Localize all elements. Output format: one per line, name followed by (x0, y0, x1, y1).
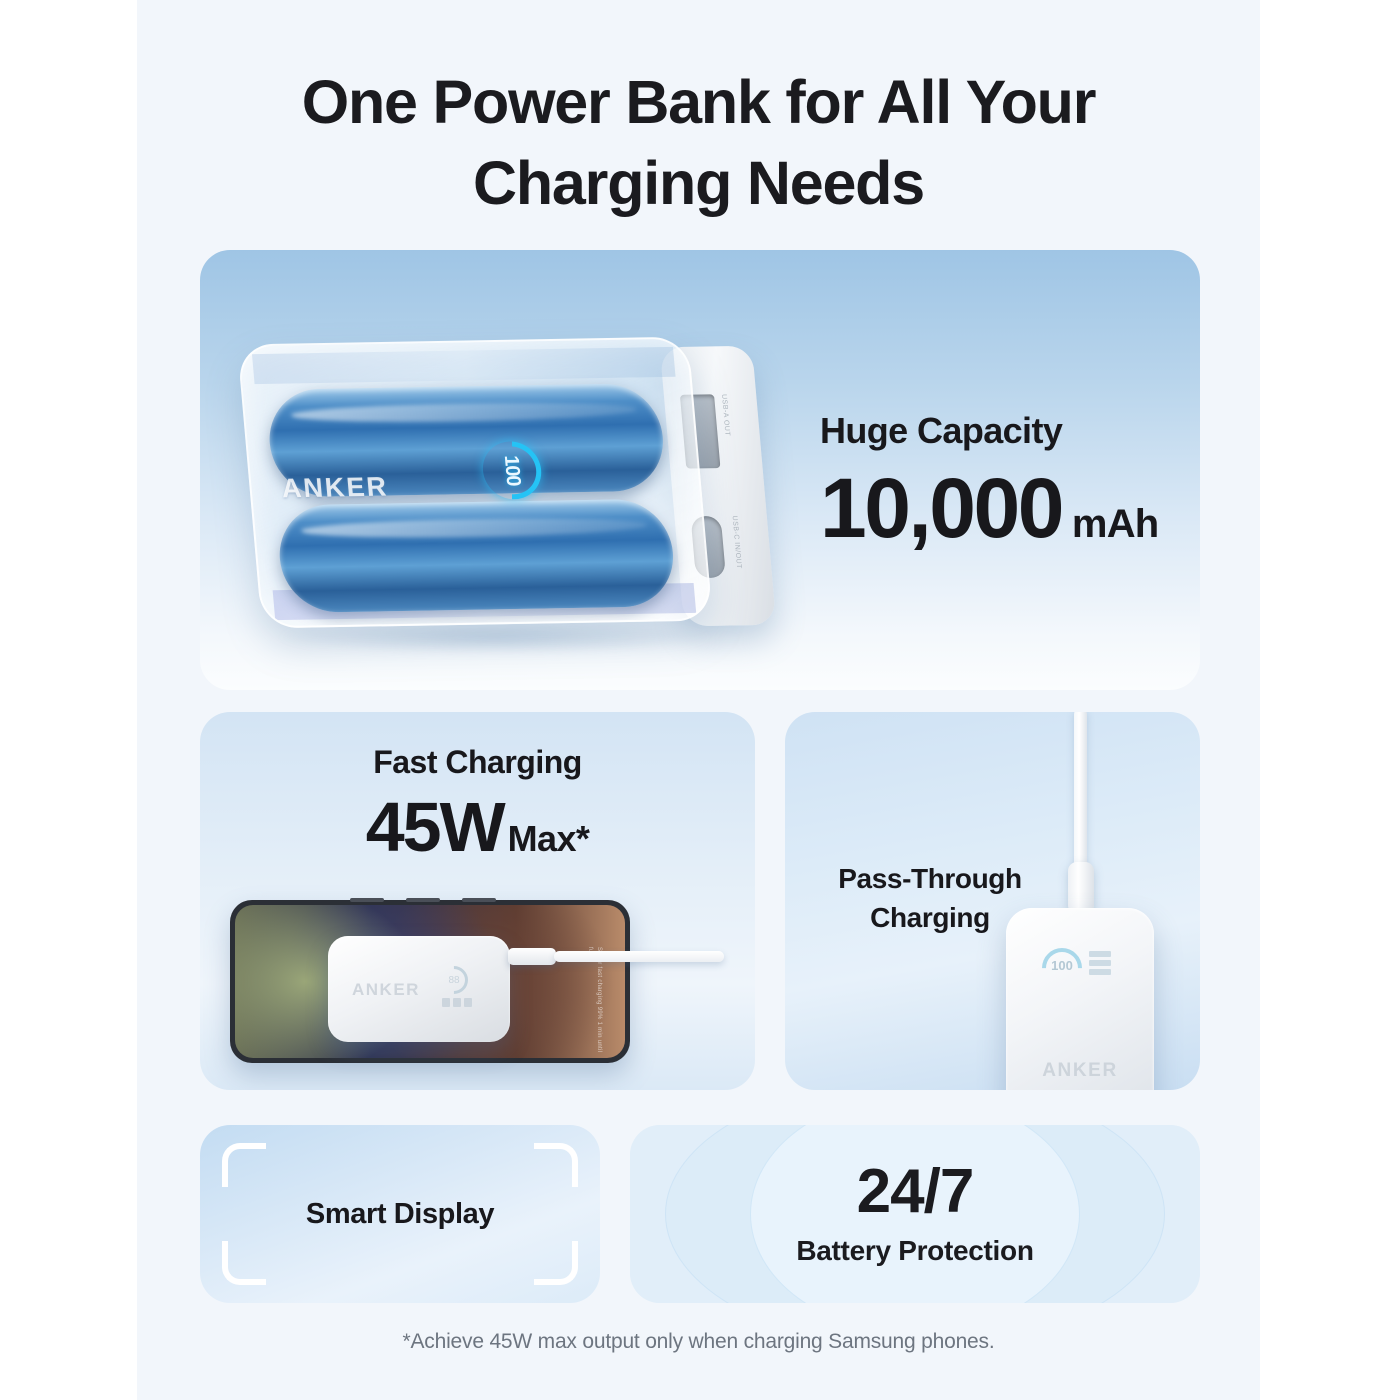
display-indicator-icons (442, 998, 472, 1007)
battery-percent-value: 100 (480, 441, 543, 500)
transparent-power-bank-image: USB-A OUT USB-C IN/OUT ANKER 100 (220, 320, 800, 660)
capacity-unit: mAh (1072, 504, 1159, 544)
circuit-board-top (252, 347, 676, 384)
smart-display-title: Smart Display (200, 1125, 600, 1303)
usb-c-port-label: USB-C IN/OUT (731, 516, 743, 569)
capacity-title: Huge Capacity (820, 410, 1158, 452)
battery-cell-highlight (300, 516, 647, 539)
capacity-value: 10,000 (820, 466, 1062, 550)
battery-gauge-icon: 100 (480, 441, 543, 500)
battery-cell-bottom (275, 499, 677, 613)
power-bank-display: 100 (1042, 948, 1120, 980)
pass-through-charging-card: Pass-Through Charging 100 ANKER (785, 712, 1200, 1090)
usb-a-port-label: USB-A OUT (720, 394, 731, 436)
fast-charging-value-row: 45W Max* (200, 787, 755, 867)
phone-side-buttons (350, 898, 510, 902)
anker-logo: ANKER (280, 472, 389, 505)
cable-wire (554, 951, 724, 962)
pass-through-title-line-2: Charging (870, 902, 990, 933)
battery-percent-value: 100 (1042, 948, 1082, 978)
usb-c-plug-icon (1068, 862, 1094, 914)
battery-protection-value: 24/7 (857, 1161, 974, 1223)
huge-capacity-card: USB-A OUT USB-C IN/OUT ANKER 100 (200, 250, 1200, 690)
power-bank-image: 100 ANKER (1006, 908, 1154, 1090)
power-bank-display (440, 966, 488, 1012)
battery-cell-highlight (290, 401, 637, 424)
page-title: One Power Bank for All Your Charging Nee… (137, 62, 1260, 224)
battery-gauge-icon: 100 (1042, 948, 1082, 978)
fast-charging-card: Fast Charging 45W Max* Super fast chargi… (200, 712, 755, 1090)
fast-charging-text-block: Fast Charging 45W Max* (200, 744, 755, 867)
usb-c-plug-icon (508, 948, 556, 965)
battery-protection-card: 24/7 Battery Protection (630, 1125, 1200, 1303)
phone-wallpaper-text: Super fast charging 99% 1 min until full (585, 947, 603, 1058)
anker-logo: ANKER (352, 980, 420, 1000)
smart-display-card: Smart Display (200, 1125, 600, 1303)
fast-charging-value: 45W (366, 787, 504, 867)
power-bank-image: ANKER (328, 936, 510, 1042)
footnote-text: *Achieve 45W max output only when chargi… (137, 1330, 1260, 1354)
capacity-value-row: 10,000 mAh (820, 466, 1158, 550)
anker-logo: ANKER (1006, 1060, 1154, 1082)
capacity-text-block: Huge Capacity 10,000 mAh (820, 410, 1158, 550)
fast-charging-title: Fast Charging (200, 744, 755, 781)
pass-through-product-image: 100 ANKER (978, 712, 1178, 1090)
display-indicator-icons (1089, 948, 1111, 980)
infographic-page: One Power Bank for All Your Charging Nee… (137, 0, 1260, 1400)
battery-protection-text-block: 24/7 Battery Protection (630, 1125, 1200, 1303)
page-title-line-2: Charging Needs (137, 143, 1260, 224)
usb-c-cable-image (508, 948, 718, 958)
battery-protection-label: Battery Protection (796, 1235, 1033, 1267)
fast-charging-unit: Max* (508, 818, 590, 860)
battery-gauge-icon (434, 960, 474, 1000)
page-title-line-1: One Power Bank for All Your (137, 62, 1260, 143)
power-bank-transparent-shell: ANKER 100 (237, 337, 713, 629)
